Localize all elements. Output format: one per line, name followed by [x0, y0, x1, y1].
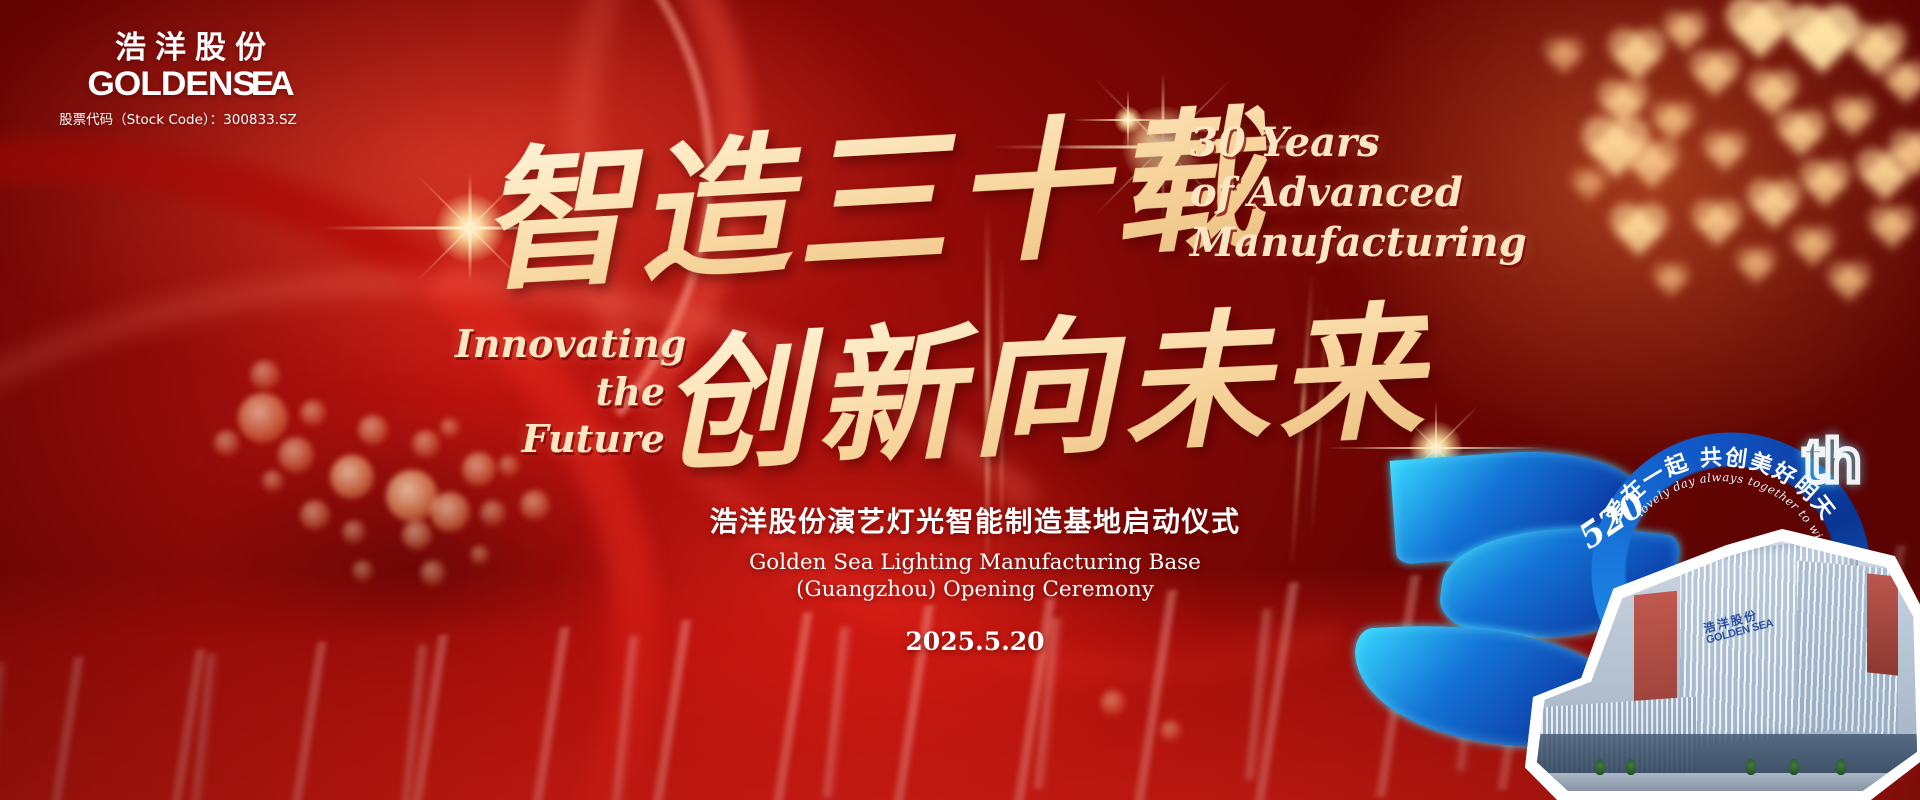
- building-red-column-right: [1867, 573, 1898, 675]
- ceremony-title-en: Golden Sea Lighting Manufacturing Base (…: [690, 549, 1260, 603]
- anniversary-banner: 浩洋股份 GOLDENSEA 股票代码（Stock Code）：300833.S…: [0, 0, 1920, 800]
- ceremony-title-en-line-2: (Guangzhou) Opening Ceremony: [690, 576, 1260, 603]
- bokeh-circle: [352, 560, 374, 582]
- english-tagline-left: Innovating the Future: [455, 320, 665, 463]
- anniversary-suffix-th: th: [1803, 426, 1862, 497]
- bokeh-circle: [278, 437, 314, 473]
- english-tagline-right-line-3: Manufacturing: [1190, 218, 1527, 268]
- bokeh-circle: [238, 393, 288, 443]
- bokeh-circle: [470, 545, 490, 565]
- bokeh-circle: [1160, 720, 1182, 742]
- bokeh-circle: [330, 455, 374, 499]
- logo-english-sea: SEA: [232, 65, 289, 103]
- logo-chinese-name: 浩洋股份: [38, 22, 318, 67]
- headquarters-building-image: 浩洋股份 GOLDEN SEA: [1533, 536, 1920, 796]
- headline-line-2: 创新向未来: [656, 255, 1435, 501]
- logo-english-name: GOLDENSEA: [32, 65, 323, 104]
- bokeh-circle: [300, 500, 330, 530]
- english-tagline-left-line-2: the Future: [455, 368, 665, 463]
- ceremony-subtitle-block: 浩洋股份演艺灯光智能制造基地启动仪式 Golden Sea Lighting M…: [690, 500, 1260, 656]
- english-tagline-right-line-1: 30 Years: [1190, 118, 1527, 168]
- bokeh-circle: [520, 490, 550, 520]
- bokeh-circle: [1100, 690, 1126, 716]
- bokeh-circle: [262, 470, 284, 492]
- ceremony-title-cn: 浩洋股份演艺灯光智能制造基地启动仪式: [690, 500, 1260, 540]
- logo-english-golden: GOLDEN: [87, 65, 232, 103]
- english-tagline-right-line-2: of Advanced: [1190, 168, 1527, 218]
- bokeh-circle: [358, 415, 388, 445]
- bokeh-circle: [480, 500, 506, 526]
- english-tagline-left-line-1: Innovating: [455, 320, 665, 368]
- bokeh-circle: [402, 520, 432, 550]
- ceremony-title-en-line-1: Golden Sea Lighting Manufacturing Base: [690, 549, 1260, 576]
- bokeh-circle: [412, 430, 440, 458]
- bokeh-circle: [300, 400, 326, 426]
- anniversary-graphic: 520 爱在一起 共创美好明天 lovely day always togeth…: [1355, 440, 1920, 800]
- english-tagline-right: 30 Years of Advanced Manufacturing: [1190, 118, 1527, 268]
- bokeh-circle: [250, 360, 280, 390]
- company-logo[interactable]: 浩洋股份 GOLDENSEA 股票代码（Stock Code）：300833.S…: [38, 22, 318, 128]
- bokeh-circle: [420, 560, 446, 586]
- ceremony-date: 2025.5.20: [690, 627, 1260, 656]
- stock-code-label: 股票代码（Stock Code）：300833.SZ: [38, 108, 318, 128]
- bokeh-circle: [430, 492, 470, 532]
- bokeh-circle: [214, 430, 240, 456]
- bokeh-circle: [342, 520, 366, 544]
